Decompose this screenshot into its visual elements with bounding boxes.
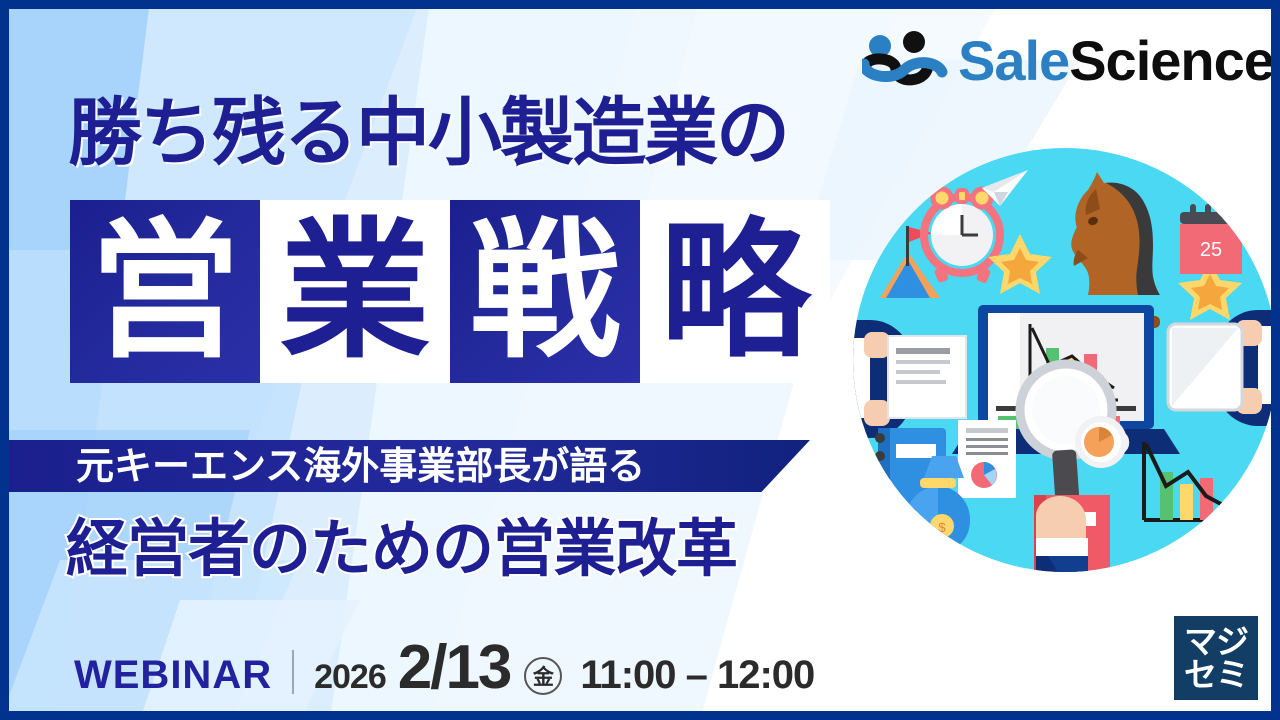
page-subheading: 経営者のための営業改革	[66, 518, 737, 580]
webinar-day-of-week: 金	[524, 657, 562, 695]
webinar-poster: 25	[0, 0, 1280, 720]
coffee-cup-icon	[1075, 416, 1127, 468]
coin-icon: $	[862, 519, 894, 551]
webinar-time: 11:00 – 12:00	[580, 653, 814, 698]
title-cell-4: 略	[640, 200, 830, 383]
logo-wordmark: SaleScience	[958, 33, 1274, 89]
hand-tablet-icon	[1168, 310, 1280, 426]
two-people-connect-icon	[862, 30, 948, 92]
title-cell-2: 業	[260, 200, 450, 383]
frame-bottom	[0, 711, 1280, 720]
frame-top	[0, 0, 1280, 9]
svg-text:$: $	[938, 520, 946, 535]
majisemi-line-1: マジ	[1184, 625, 1248, 658]
logo-science-text: Science	[1069, 29, 1274, 92]
logo-sale-text: Sale	[958, 29, 1069, 92]
title-cell-3: 戦	[450, 200, 640, 383]
speaker-ribbon-text: 元キーエンス海外事業部長が語る	[76, 447, 645, 485]
calendar-icon: 25	[1180, 204, 1242, 274]
report-pie-chart-icon	[958, 420, 1016, 498]
frame-right	[1271, 0, 1280, 720]
business-strategy-illustration: 25	[850, 120, 1280, 600]
webinar-date-bar: WEBINAR 2026 2/13 金 11:00 – 12:00	[74, 632, 814, 703]
divider	[292, 650, 294, 694]
webinar-year: 2026	[314, 658, 386, 697]
webinar-label: WEBINAR	[74, 653, 272, 698]
main-title: 営 業 戦 略	[70, 200, 830, 383]
majisemi-badge: マジ セミ	[1174, 616, 1258, 700]
illustration-svg: 25	[850, 120, 1280, 600]
frame-left	[0, 0, 9, 720]
salescience-logo: SaleScience	[862, 30, 1274, 92]
title-cell-1: 営	[70, 200, 260, 383]
webinar-date: 2/13	[398, 632, 511, 703]
svg-text:25: 25	[1200, 239, 1222, 261]
page-headline: 勝ち残る中小製造業の	[68, 96, 788, 170]
speaker-ribbon: 元キーエンス海外事業部長が語る	[0, 440, 810, 492]
majisemi-line-2: セミ	[1184, 658, 1248, 691]
svg-text:$: $	[874, 529, 883, 546]
